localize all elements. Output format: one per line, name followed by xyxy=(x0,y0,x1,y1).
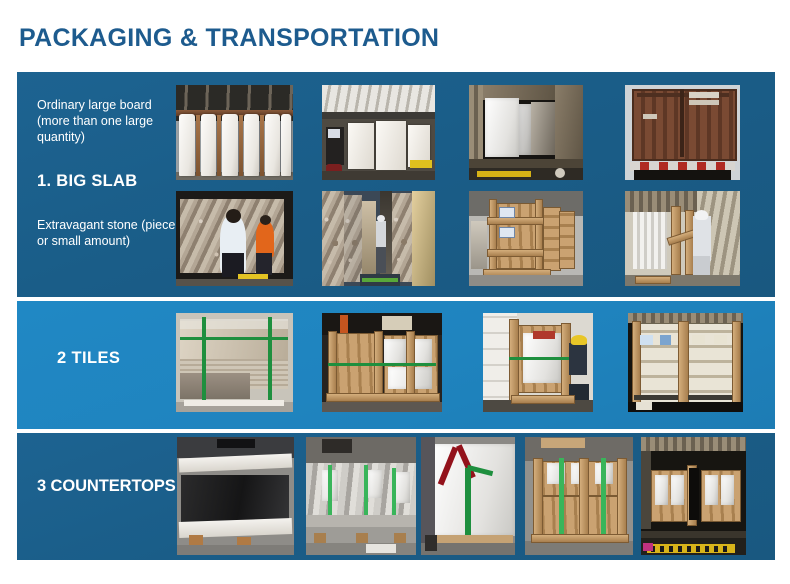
photo-tile-crates-in-container xyxy=(628,313,743,412)
heading-tiles: 2 TILES xyxy=(57,349,120,368)
content-panel: Ordinary large board (more than one larg… xyxy=(17,72,775,560)
photo-grey-countertop-pallet xyxy=(306,437,416,555)
label-extravagant-stone: Extravagant stone (piece or small amount… xyxy=(37,217,182,249)
section-tiles: 2 TILES xyxy=(17,301,775,429)
photo-workers-granite-slab xyxy=(176,191,293,286)
section-countertops: 3 COUNTERTOPS xyxy=(17,433,775,560)
photo-strapped-tile-pallet xyxy=(176,313,293,412)
section-big-slab: Ordinary large board (more than one larg… xyxy=(17,72,775,297)
photo-worker-slab-aisle xyxy=(322,191,435,286)
label-ordinary-large-board: Ordinary large board (more than one larg… xyxy=(37,97,177,145)
photo-countertop-crates-stacked xyxy=(525,437,633,555)
heading-countertops: 3 COUNTERTOPS xyxy=(37,477,176,496)
photo-slabs-loading-bay xyxy=(322,85,435,180)
photo-tile-crates-warehouse xyxy=(322,313,442,412)
photo-crate-loading-worker xyxy=(483,313,593,412)
photo-slabs-in-container xyxy=(469,85,583,180)
page-title: PACKAGING & TRANSPORTATION xyxy=(19,24,439,53)
photo-wrapped-countertop-strap xyxy=(421,437,515,555)
photo-worker-loading-container xyxy=(625,191,740,286)
photo-wooden-a-frame-crates xyxy=(469,191,583,286)
photo-container-truck-rear xyxy=(625,85,740,180)
photo-countertop-crates-container xyxy=(641,437,746,555)
photo-black-countertop-bundle xyxy=(177,437,294,555)
heading-big-slab: 1. BIG SLAB xyxy=(37,172,137,191)
slide-canvas: PACKAGING & TRANSPORTATION Ordinary larg… xyxy=(0,0,790,584)
photo-white-slabs-warehouse xyxy=(176,85,293,180)
